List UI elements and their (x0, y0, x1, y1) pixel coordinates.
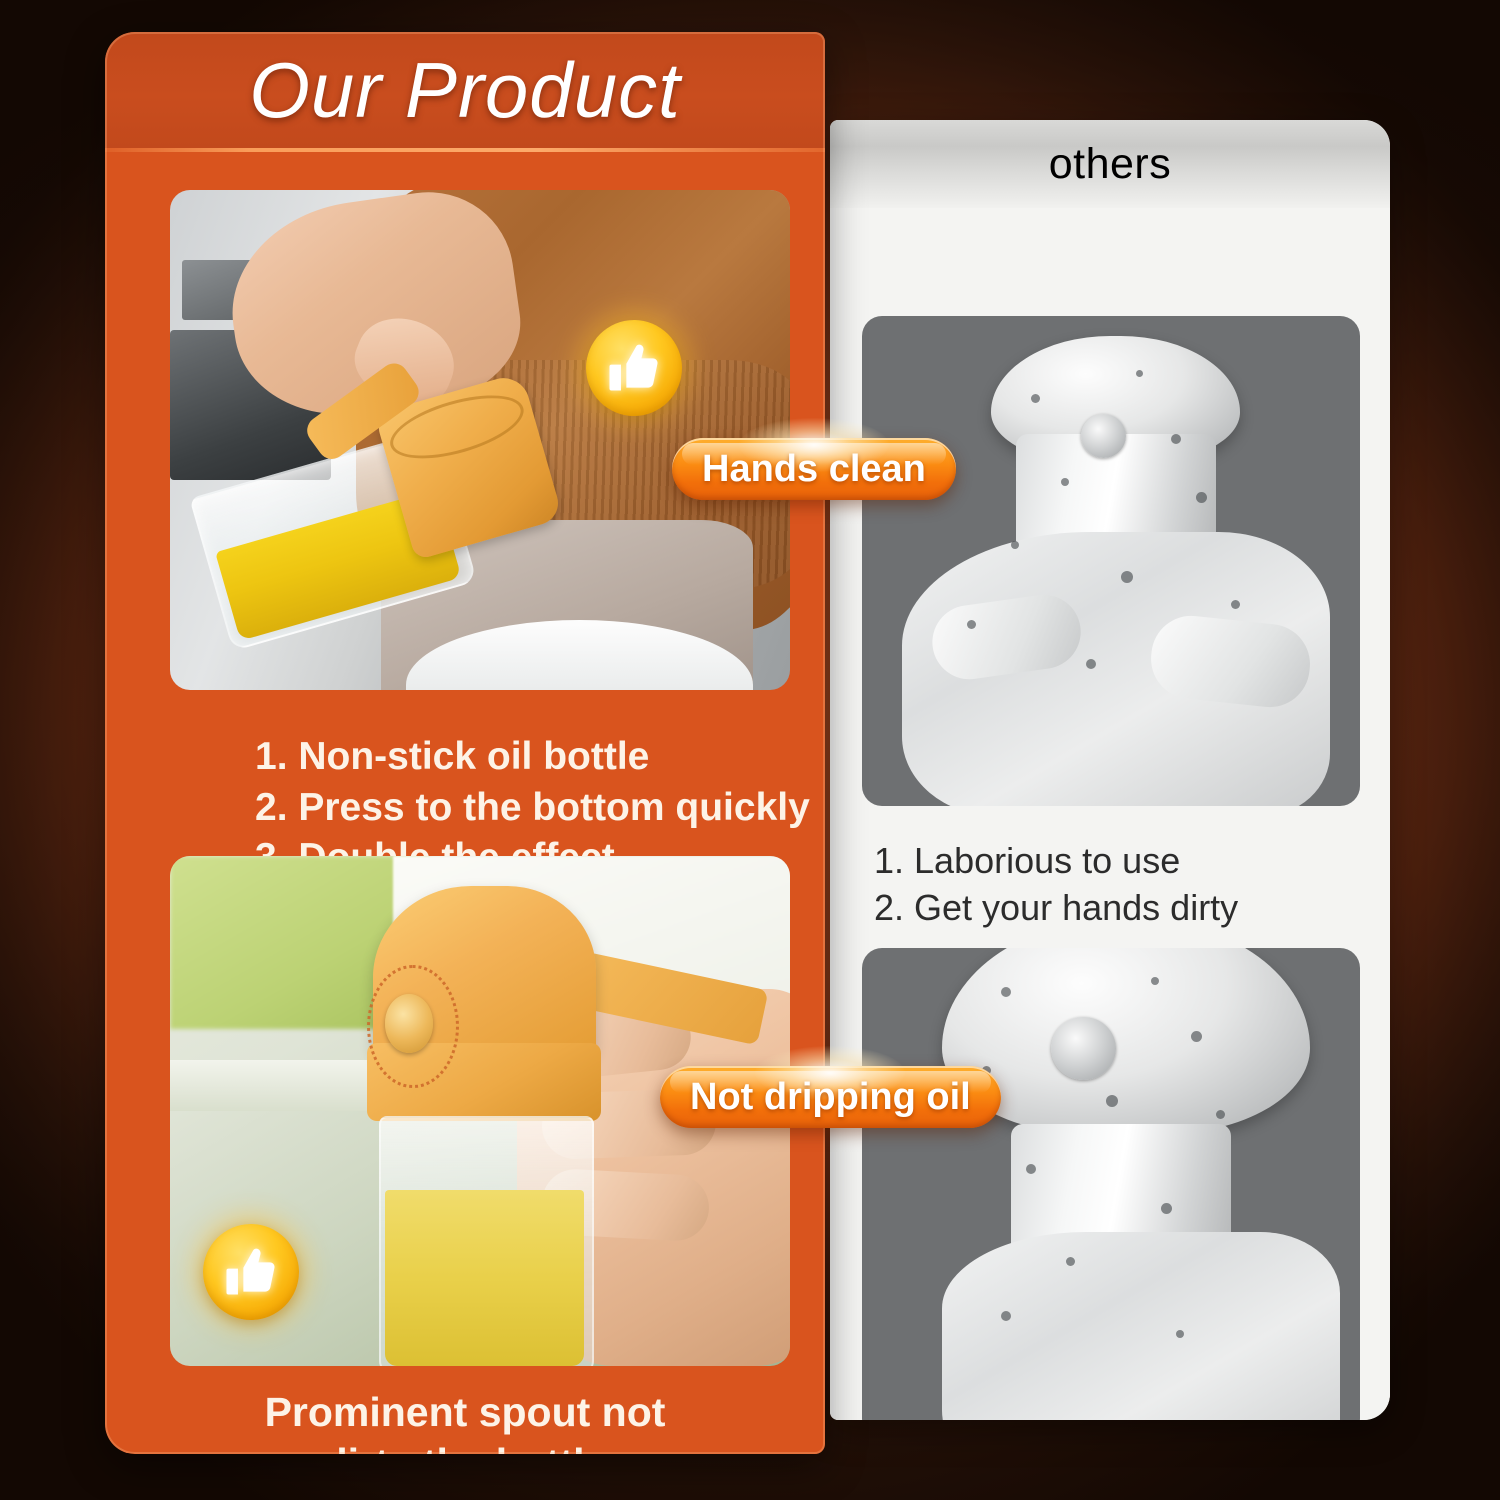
others-drawback-list: 1. Laborious to use 2. Get your hands di… (874, 838, 1374, 932)
thumbs-up-icon (586, 320, 682, 416)
thumbs-up-icon (203, 1224, 299, 1320)
product-title: Our Product (105, 32, 825, 148)
contaminated-cap-photo (862, 948, 1360, 1420)
oil-bottle-shape (356, 876, 641, 1366)
product-caption: Prominent spout not dirty the bottle (145, 1387, 785, 1454)
bottle-body-shape (942, 1232, 1340, 1420)
product-feature-item: 1. Non-stick oil bottle (255, 732, 815, 783)
badge-not-dripping-oil: Not dripping oil (660, 1066, 1001, 1128)
bottle-oil-fill (385, 1190, 585, 1366)
product-caption-line: Prominent spout not (145, 1387, 785, 1438)
screw-detail (1081, 414, 1126, 458)
badge-hands-clean: Hands clean (672, 438, 956, 500)
header-divider-line (105, 148, 825, 152)
badge-label: Hands clean (702, 448, 926, 491)
others-drawback-item: 1. Laborious to use (874, 838, 1374, 885)
infographic-canvas: others 1. Laborious (0, 0, 1500, 1500)
product-feature-item: 2. Press to the bottom quickly (255, 783, 815, 834)
others-title: others (830, 120, 1390, 208)
highlight-dotted-circle (367, 965, 459, 1089)
others-panel: others 1. Laborious (830, 120, 1390, 1420)
others-drawback-item: 2. Get your hands dirty (874, 885, 1374, 932)
others-body: 1. Laborious to use 2. Get your hands di… (830, 208, 1390, 1420)
badge-label: Not dripping oil (690, 1076, 971, 1119)
screw-detail (1051, 1017, 1116, 1081)
dirty-hand-photo (862, 316, 1360, 806)
product-caption-line: dirty the bottle (145, 1438, 785, 1454)
